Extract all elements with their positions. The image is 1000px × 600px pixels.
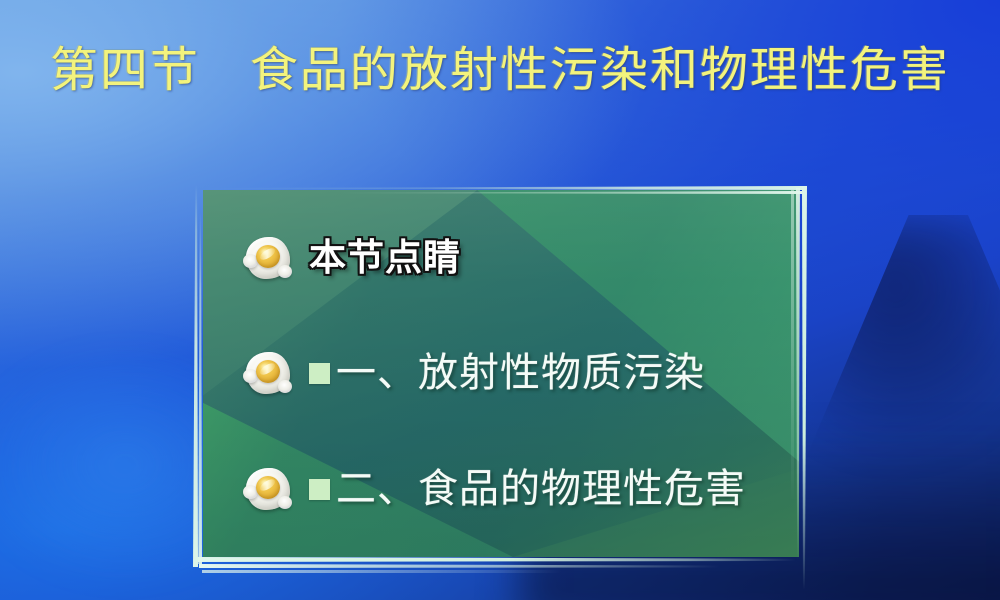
- square-bullet-icon: [309, 363, 330, 384]
- panel-content: 本节点睛 一、放射性物质污染 二、食品的物理性危害: [203, 190, 813, 557]
- panel-border-bottom-inner-2: [202, 570, 562, 573]
- fried-egg-icon: [245, 236, 291, 280]
- panel-border-bottom-inner: [199, 564, 719, 568]
- fried-egg-icon: [245, 351, 291, 395]
- panel-heading-text: 本节点睛: [309, 238, 461, 278]
- panel-border-bottom: [196, 557, 796, 562]
- content-panel: 本节点睛 一、放射性物质污染 二、食品的物理性危害: [190, 182, 812, 574]
- panel-border-left: [193, 185, 198, 567]
- list-item: 二、食品的物理性危害: [245, 466, 746, 512]
- panel-heading-row: 本节点睛: [245, 236, 461, 280]
- panel-border-left-inner: [198, 212, 202, 564]
- list-item: 一、放射性物质污染: [245, 350, 705, 396]
- slide-title: 第四节 食品的放射性污染和物理性危害: [0, 42, 1000, 98]
- fried-egg-icon: [245, 467, 291, 511]
- list-item-label: 二、食品的物理性危害: [336, 466, 746, 512]
- square-bullet-icon: [309, 479, 330, 500]
- presentation-slide: 第四节 食品的放射性污染和物理性危害 本节点睛: [0, 0, 1000, 600]
- list-item-label: 一、放射性物质污染: [336, 350, 705, 396]
